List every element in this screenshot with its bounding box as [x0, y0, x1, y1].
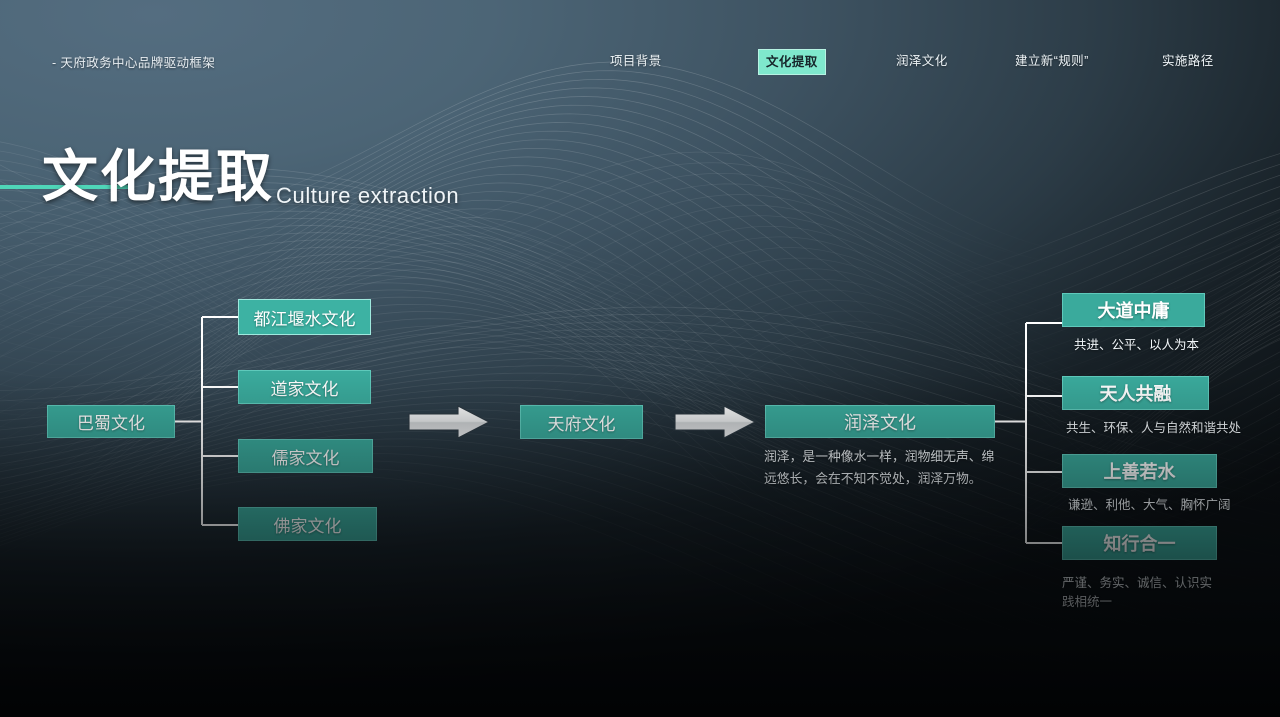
diagram-middle-box[interactable]: 天府文化: [520, 405, 643, 439]
diagram-result-description: 润泽，是一种像水一样，润物细无声、绵远悠长，会在不知不觉处，润泽万物。: [764, 446, 1000, 490]
arrow-left-to-middle: [409, 406, 489, 438]
diagram-root-box[interactable]: 巴蜀文化: [47, 405, 175, 438]
value-label-3: 上善若水: [1104, 458, 1176, 484]
source-box-4[interactable]: 佛家文化: [238, 507, 377, 541]
diagram-result-box[interactable]: 润泽文化: [765, 405, 995, 438]
diagram-root-label: 巴蜀文化: [77, 409, 145, 434]
value-description-1: 共进、公平、以人为本: [1074, 336, 1249, 355]
source-label-3: 儒家文化: [272, 444, 340, 469]
value-box-2[interactable]: 天人共融: [1062, 376, 1209, 410]
diagram-result-label: 润泽文化: [844, 409, 916, 435]
value-description-3: 谦逊、利他、大气、胸怀广阔: [1068, 496, 1253, 515]
source-box-1[interactable]: 都江堰水文化: [238, 299, 371, 335]
source-label-2: 道家文化: [271, 375, 339, 400]
value-label-2: 天人共融: [1100, 380, 1172, 406]
value-box-1[interactable]: 大道中庸: [1062, 293, 1205, 327]
value-box-3[interactable]: 上善若水: [1062, 454, 1217, 488]
source-label-1: 都江堰水文化: [254, 305, 356, 330]
value-description-2: 共生、环保、人与自然和谐共处: [1066, 419, 1261, 438]
value-box-4[interactable]: 知行合一: [1062, 526, 1217, 560]
value-label-1: 大道中庸: [1098, 297, 1170, 323]
slide-canvas: - 天府政务中心品牌驱动框架 项目背景文化提取润泽文化建立新“规则”实施路径 文…: [0, 0, 1280, 717]
source-box-2[interactable]: 道家文化: [238, 370, 371, 404]
value-label-4: 知行合一: [1104, 530, 1176, 556]
value-description-4: 严谨、务实、诚信、认识实践相统一: [1062, 574, 1222, 612]
source-box-3[interactable]: 儒家文化: [238, 439, 373, 473]
diagram-middle-label: 天府文化: [548, 410, 616, 435]
source-label-4: 佛家文化: [274, 512, 342, 537]
arrow-middle-to-result: [675, 406, 755, 438]
